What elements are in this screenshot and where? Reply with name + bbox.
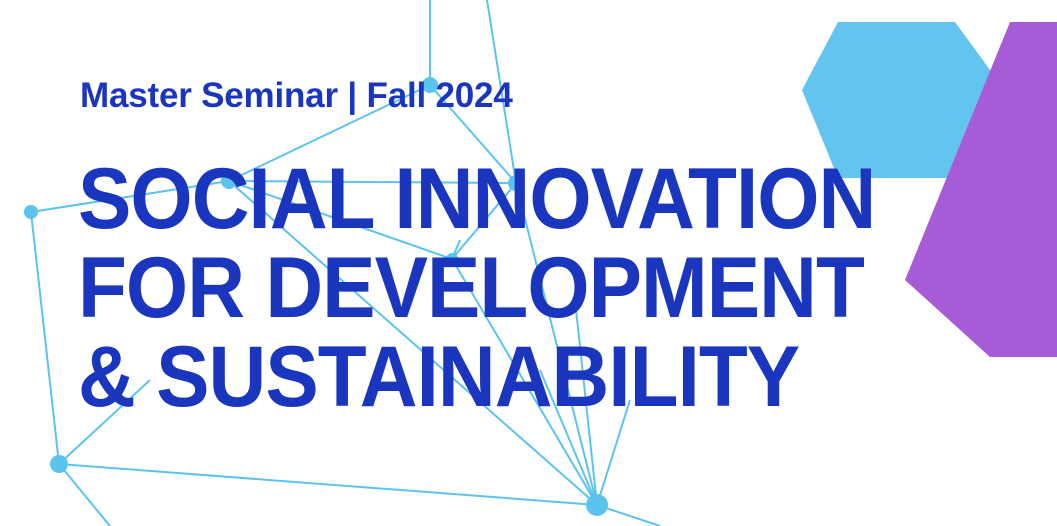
headline-line-2: FOR DEVELOPMENT xyxy=(78,246,875,331)
edge-s xyxy=(597,505,660,526)
edge-n xyxy=(59,464,110,526)
node-left-upper xyxy=(24,205,38,219)
node-hub-bottom xyxy=(586,494,608,516)
seminar-eyebrow: Master Seminar | Fall 2024 xyxy=(80,78,935,113)
poster-canvas: Master Seminar | Fall 2024 SOCIAL INNOVA… xyxy=(0,0,1057,526)
edge-l xyxy=(31,212,59,464)
node-left-lower xyxy=(50,455,68,473)
page-title: SOCIAL INNOVATION FOR DEVELOPMENT & SUST… xyxy=(78,157,935,420)
poster-text-block: Master Seminar | Fall 2024 SOCIAL INNOVA… xyxy=(78,78,935,424)
edge-o xyxy=(59,464,597,505)
headline-line-3: & SUSTAINABILITY xyxy=(78,335,875,420)
headline-line-1: SOCIAL INNOVATION xyxy=(78,157,875,242)
